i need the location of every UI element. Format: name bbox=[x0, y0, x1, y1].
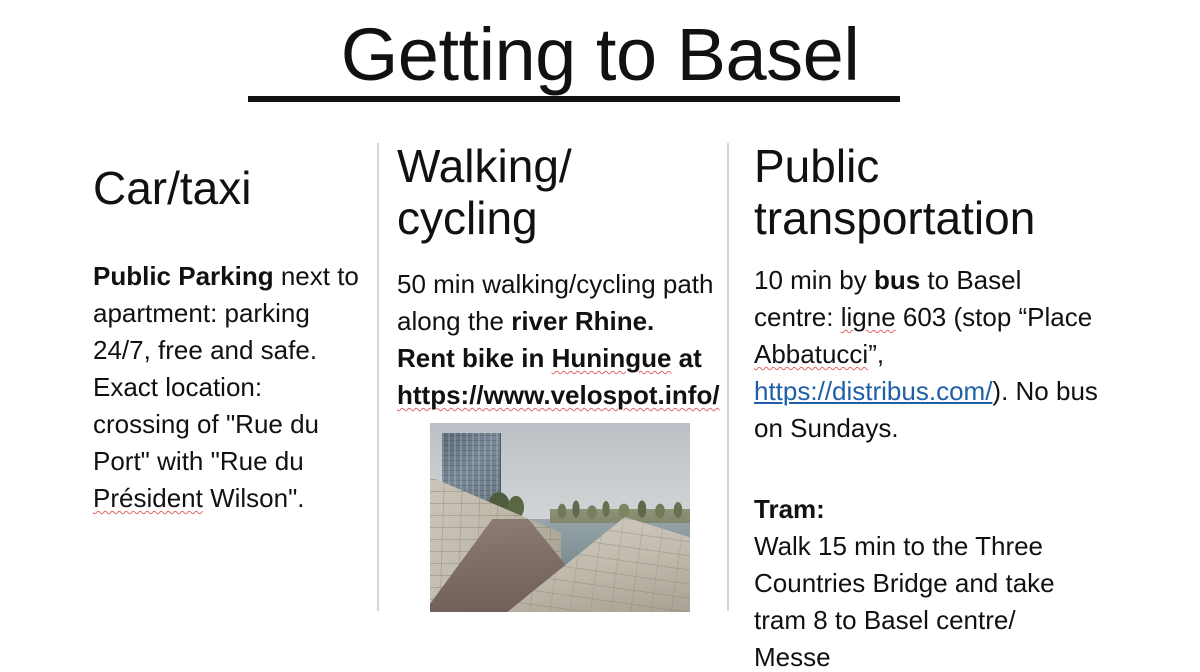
tram-label: Tram: bbox=[754, 494, 825, 524]
title-underline-rule bbox=[248, 96, 900, 102]
car-body-bold-lead: Public Parking bbox=[93, 261, 274, 291]
column-divider-left bbox=[377, 143, 379, 611]
distribus-link[interactable]: https://distribus.com/ bbox=[754, 376, 992, 406]
column-heading-car-taxi: Car/taxi bbox=[93, 140, 365, 214]
paragraph-spacer bbox=[754, 447, 1099, 473]
column-heading-walking-cycling: Walking/cycling bbox=[397, 140, 719, 244]
walking-heading-line2: cycling bbox=[397, 192, 538, 244]
column-heading-public-transportation: Publictransportation bbox=[754, 140, 1099, 244]
walking-heading-line1: Walking/ bbox=[397, 140, 572, 192]
tram-text: Walk 15 min to the Three Countries Bridg… bbox=[754, 531, 1055, 672]
car-body-rest: next to apartment: parking 24/7, free an… bbox=[93, 261, 359, 476]
bus-misspelled-ligne: ligne bbox=[841, 302, 896, 332]
car-body-tail: Wilson". bbox=[203, 483, 305, 513]
column-body-car-taxi: Public Parking next to apartment: parkin… bbox=[93, 258, 365, 517]
column-body-walking-cycling: 50 min walking/cycling path along the ri… bbox=[397, 266, 719, 414]
bus-lead: 10 min by bbox=[754, 265, 874, 295]
slide-canvas: Getting to Basel Car/taxi Public Parking… bbox=[0, 0, 1200, 672]
walking-body-velospot-url[interactable]: https://www.velospot.info/ bbox=[397, 380, 720, 410]
column-body-bus: 10 min by bus to Basel centre: ligne 603… bbox=[754, 262, 1099, 447]
column-body-tram: Tram:Walk 15 min to the Three Countries … bbox=[754, 491, 1099, 672]
column-car-taxi: Car/taxi Public Parking next to apartmen… bbox=[93, 140, 365, 517]
bus-mid2: 603 (stop “Place bbox=[896, 302, 1093, 332]
bus-misspelled-abbatucci: Abbatucci bbox=[754, 339, 868, 369]
bus-bold-word: bus bbox=[874, 265, 920, 295]
rhine-path-photo bbox=[430, 423, 690, 612]
column-public-transportation: Publictransportation 10 min by bus to Ba… bbox=[754, 140, 1099, 672]
bus-mid3: ”, bbox=[868, 339, 884, 369]
column-walking-cycling: Walking/cycling 50 min walking/cycling p… bbox=[397, 140, 719, 414]
walking-body-bold-part2: at bbox=[671, 343, 701, 373]
walking-body-misspelled-huningue: Huningue bbox=[552, 343, 672, 373]
column-divider-right bbox=[727, 143, 729, 611]
photo-trees bbox=[554, 499, 690, 521]
car-body-misspelled-president: Président bbox=[93, 483, 203, 513]
public-heading-line2: transportation bbox=[754, 192, 1035, 244]
public-heading-line1: Public bbox=[754, 140, 879, 192]
page-title: Getting to Basel bbox=[0, 14, 1200, 96]
